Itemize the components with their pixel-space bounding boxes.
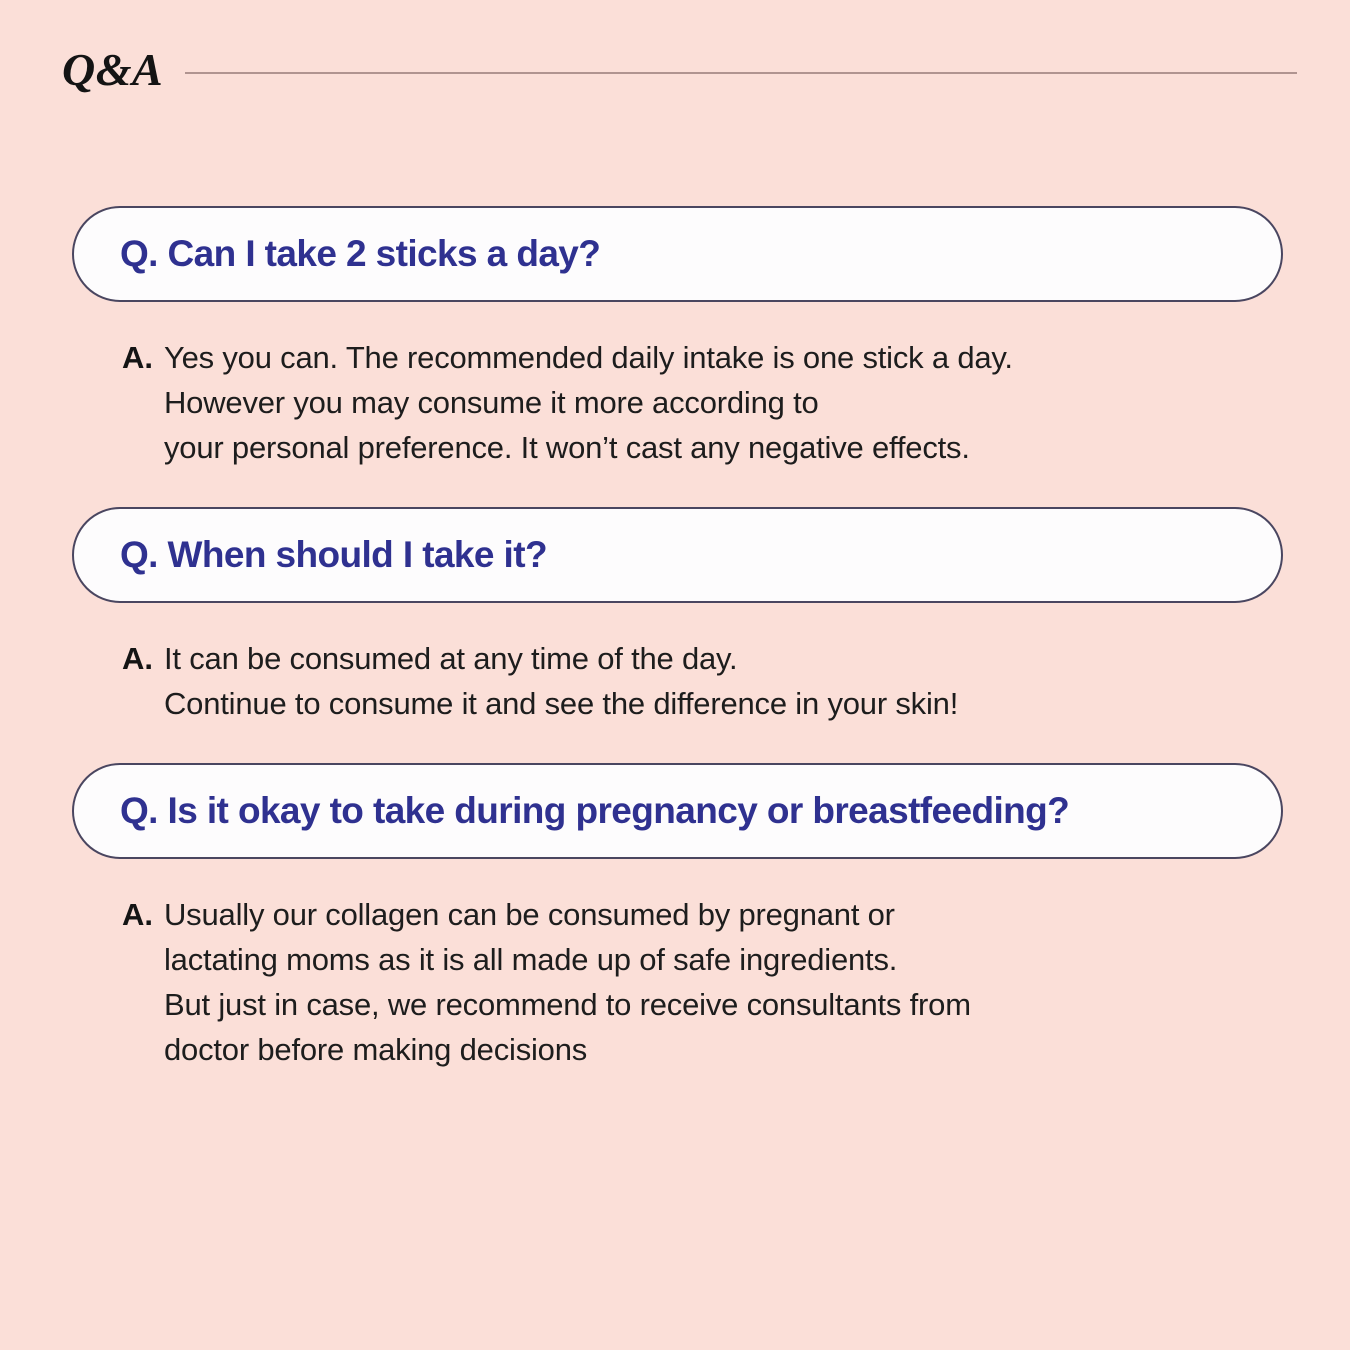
answer-lines: Usually our collagen can be consumed by …: [164, 892, 1350, 1072]
answer-line: Continue to consume it and see the diffe…: [164, 681, 1350, 726]
answer-line: your personal preference. It won’t cast …: [164, 425, 1350, 470]
question-pill-3[interactable]: Q. Is it okay to take during pregnancy o…: [72, 763, 1283, 859]
answer-line: lactating moms as it is all made up of s…: [164, 937, 1350, 982]
answer-block-3: A. Usually our collagen can be consumed …: [122, 892, 1350, 1072]
question-text: Q. Is it okay to take during pregnancy o…: [120, 791, 1069, 832]
answer-marker: A.: [122, 892, 164, 937]
answer-line: However you may consume it more accordin…: [164, 380, 1350, 425]
answer-marker: A.: [122, 636, 164, 681]
answer-line: It can be consumed at any time of the da…: [164, 636, 1350, 681]
answer-block-1: A. Yes you can. The recommended daily in…: [122, 335, 1350, 470]
qa-page: Q&A Q. Can I take 2 sticks a day? A. Yes…: [0, 0, 1350, 1350]
question-text: Q. Can I take 2 sticks a day?: [120, 234, 600, 275]
answer-line: doctor before making decisions: [164, 1027, 1350, 1072]
answer-line: Yes you can. The recommended daily intak…: [164, 335, 1350, 380]
page-header: Q&A: [62, 40, 1297, 100]
page-title: Q&A: [62, 47, 185, 93]
qa-item: Q. Can I take 2 sticks a day? A. Yes you…: [0, 206, 1350, 470]
qa-list: Q. Can I take 2 sticks a day? A. Yes you…: [0, 206, 1350, 1072]
answer-lines: Yes you can. The recommended daily intak…: [164, 335, 1350, 470]
answer-marker: A.: [122, 335, 164, 380]
question-text: Q. When should I take it?: [120, 535, 547, 576]
question-pill-2[interactable]: Q. When should I take it?: [72, 507, 1283, 603]
qa-item: Q. Is it okay to take during pregnancy o…: [0, 763, 1350, 1072]
question-pill-1[interactable]: Q. Can I take 2 sticks a day?: [72, 206, 1283, 302]
answer-lines: It can be consumed at any time of the da…: [164, 636, 1350, 726]
answer-line: Usually our collagen can be consumed by …: [164, 892, 1350, 937]
header-divider: [185, 72, 1297, 74]
answer-block-2: A. It can be consumed at any time of the…: [122, 636, 1350, 726]
qa-item: Q. When should I take it? A. It can be c…: [0, 507, 1350, 726]
answer-line: But just in case, we recommend to receiv…: [164, 982, 1350, 1027]
